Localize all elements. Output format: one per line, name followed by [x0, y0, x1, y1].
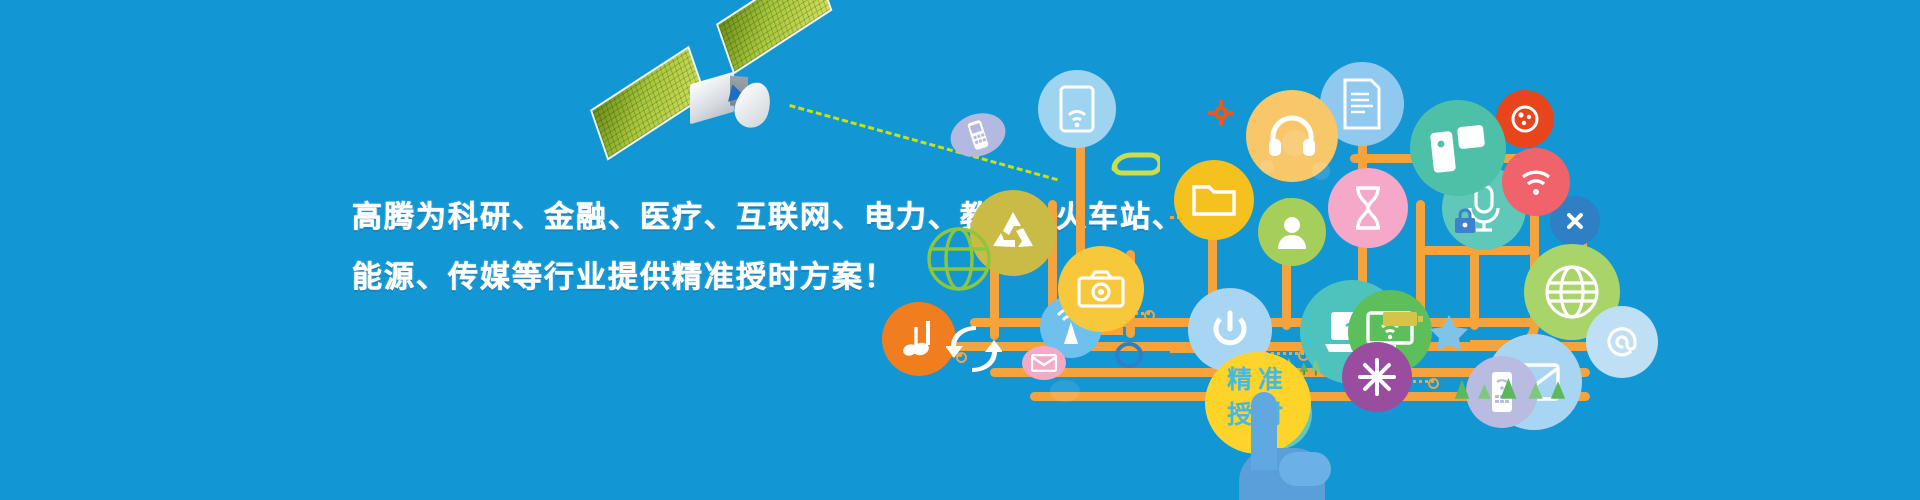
- hourglass-icon[interactable]: [1328, 168, 1408, 248]
- paperclip-icon[interactable]: [1106, 146, 1160, 186]
- bubble-decoration: [1282, 130, 1308, 156]
- at-sign-icon[interactable]: [1586, 306, 1658, 378]
- globe-outline-icon[interactable]: [920, 220, 998, 298]
- bubble-decoration: [1260, 160, 1274, 174]
- star-icon[interactable]: [1428, 312, 1470, 354]
- tablet-wifi-icon[interactable]: [1038, 70, 1116, 148]
- user-icon[interactable]: [1258, 198, 1326, 266]
- solar-panel-icon: [716, 0, 832, 75]
- asterisk-flower-icon[interactable]: [1342, 342, 1412, 412]
- camera-icon[interactable]: [1058, 246, 1144, 332]
- battery-icon[interactable]: [1382, 308, 1424, 330]
- folder-icon[interactable]: [1174, 160, 1254, 240]
- wifi-signal-icon[interactable]: [1502, 148, 1570, 216]
- gear-icon[interactable]: [1208, 100, 1234, 126]
- ring-icon[interactable]: [1108, 340, 1150, 370]
- pointing-hand-icon: [1225, 392, 1335, 500]
- promo-banner: 高腾为科研、金融、医疗、互联网、电力、教育、火车站、 能源、传媒等行业提供精准授…: [0, 0, 1920, 500]
- lock-icon[interactable]: [1450, 206, 1480, 236]
- tree-decoration: [1446, 370, 1566, 410]
- bubble-decoration: [1050, 380, 1080, 402]
- solar-panel-icon: [590, 46, 706, 161]
- envelope-small-icon[interactable]: [1022, 346, 1066, 380]
- bubble-decoration: [1312, 162, 1330, 180]
- mobile-phone-icon[interactable]: [945, 106, 1011, 163]
- device-pair-icon[interactable]: [1410, 100, 1506, 196]
- refresh-sync-icon[interactable]: [942, 322, 1006, 374]
- gear-small-icon: [1266, 42, 1286, 62]
